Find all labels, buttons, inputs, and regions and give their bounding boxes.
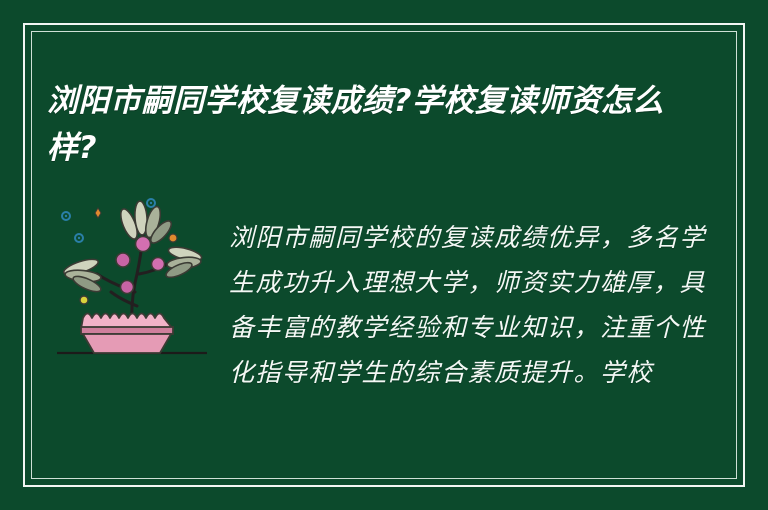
leaf-cluster-left-icon (62, 256, 103, 294)
flower-pot-icon (81, 314, 173, 354)
article-card: 浏阳市嗣同学校复读成绩?学校复读师资怎么样? (0, 0, 768, 510)
article-content: 浏阳市嗣同学校的复读成绩优异，多名学生成功升入理想大学，师资实力雄厚，具备丰富的… (47, 190, 721, 470)
leaf-cluster-right-icon (164, 245, 203, 281)
article-body-text: 浏阳市嗣同学校的复读成绩优异，多名学生成功升入理想大学，师资实力雄厚，具备丰富的… (229, 215, 721, 395)
page-title: 浏阳市嗣同学校复读成绩?学校复读师资怎么样? (47, 78, 687, 172)
potted-plant-illustration (47, 194, 217, 374)
potted-plant-svg (47, 194, 217, 374)
plant-stems-icon (97, 234, 171, 324)
